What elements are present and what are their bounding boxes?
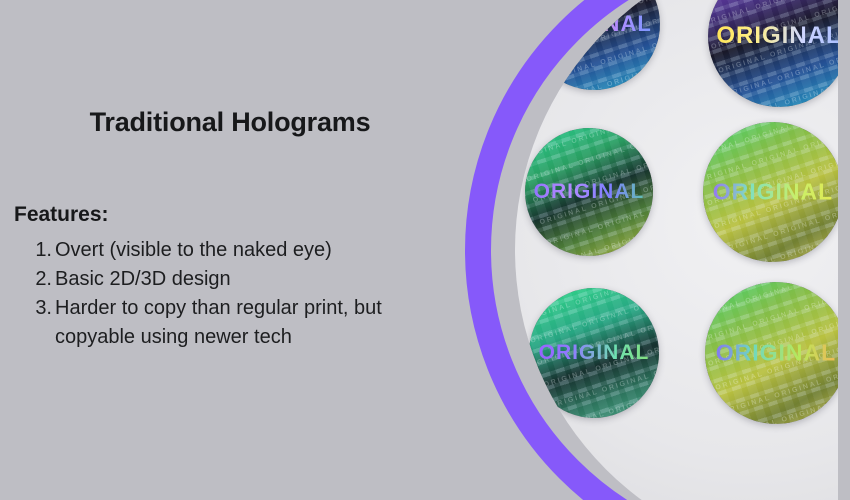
purple-accent-arc bbox=[465, 0, 850, 500]
slide-canvas: ORIGINAL ORIGINAL ORIGINAL ORIGINAL ORIG… bbox=[0, 0, 850, 500]
list-item: 1. Overt (visible to the naked eye) bbox=[14, 236, 454, 265]
list-item-label: Harder to copy than regular print, but c… bbox=[55, 294, 454, 352]
right-edge-margin bbox=[838, 0, 850, 500]
list-item-label: Basic 2D/3D design bbox=[55, 265, 454, 294]
list-item-label: Overt (visible to the naked eye) bbox=[55, 236, 454, 265]
list-item-number: 3. bbox=[32, 294, 52, 323]
page-title: Traditional Holograms bbox=[0, 106, 460, 138]
hologram-photo-area: ORIGINAL ORIGINAL ORIGINAL ORIGINAL ORIG… bbox=[430, 0, 850, 500]
list-item: 3. Harder to copy than regular print, bu… bbox=[14, 294, 454, 352]
list-item: 2. Basic 2D/3D design bbox=[14, 265, 454, 294]
list-item-number: 1. bbox=[32, 236, 52, 265]
features-list: 1. Overt (visible to the naked eye) 2. B… bbox=[14, 236, 454, 352]
text-column: Traditional Holograms Features: 1. Overt… bbox=[0, 0, 460, 500]
list-item-number: 2. bbox=[32, 265, 52, 294]
features-heading: Features: bbox=[14, 202, 109, 227]
